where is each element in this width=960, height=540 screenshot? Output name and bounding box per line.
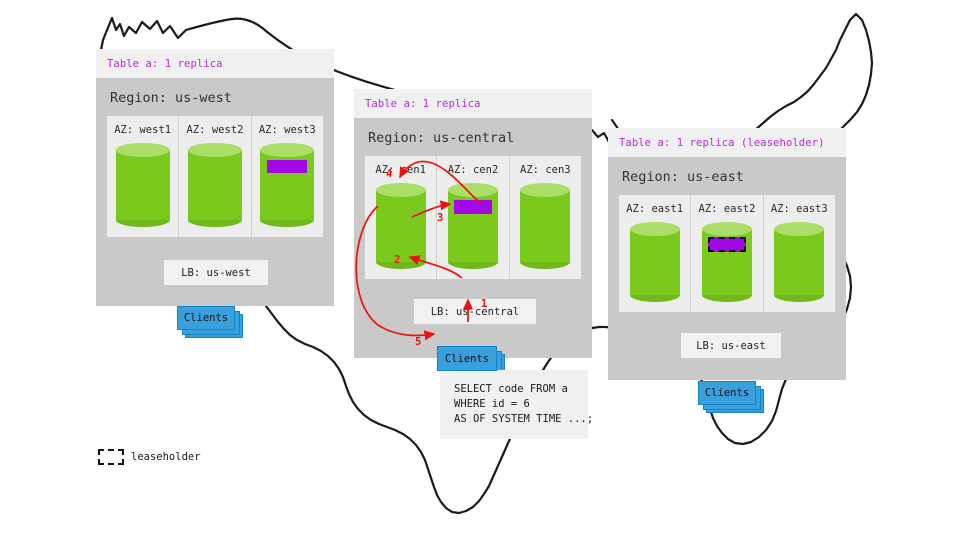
cylinder-body — [774, 229, 824, 295]
az-label-cen2: AZ: cen2 — [437, 164, 508, 176]
node-cylinder-east3[interactable] — [774, 222, 824, 302]
cylinder-top — [702, 222, 752, 236]
az-cell-cen2[interactable]: AZ: cen2 — [437, 156, 509, 279]
sql-query-box: SELECT code FROM a WHERE id = 6 AS OF SY… — [440, 370, 588, 439]
region-title-us-west: Region: us-west — [96, 78, 334, 116]
legend-label: leaseholder — [131, 451, 201, 463]
load-balancer-us-central[interactable]: LB: us-central — [414, 299, 536, 324]
diagram-canvas: Table a: 1 replica Region: us-west AZ: w… — [0, 0, 960, 540]
node-cylinder-cen2[interactable] — [448, 183, 498, 269]
cylinder-body — [376, 190, 426, 262]
cylinder-top — [630, 222, 680, 236]
arrow-number-2: 2 — [394, 254, 400, 266]
region-panel-us-central: Table a: 1 replica Region: us-central AZ… — [354, 89, 592, 358]
region-header-us-east: Table a: 1 replica (leaseholder) — [608, 128, 846, 157]
replica-range-west3[interactable] — [267, 160, 307, 173]
az-label-west2: AZ: west2 — [179, 124, 250, 136]
load-balancer-us-west[interactable]: LB: us-west — [164, 260, 268, 285]
az-cell-east3[interactable]: AZ: east3 — [764, 195, 835, 312]
leaseholder-dashed-swatch — [98, 449, 124, 465]
clients-stack-us-west[interactable]: Clients — [177, 306, 241, 338]
az-strip-us-east: AZ: east1 AZ: east2 — [619, 195, 835, 312]
node-cylinder-east2[interactable] — [702, 222, 752, 302]
cylinder-top — [448, 183, 498, 197]
region-body-us-central: Region: us-central AZ: cen1 AZ: cen2 — [354, 118, 592, 358]
az-label-east2: AZ: east2 — [691, 203, 762, 215]
arrow-number-5: 5 — [415, 336, 421, 348]
az-cell-west2[interactable]: AZ: west2 — [179, 116, 251, 237]
node-cylinder-east1[interactable] — [630, 222, 680, 302]
arrow-number-4: 4 — [386, 168, 392, 180]
az-cell-cen3[interactable]: AZ: cen3 — [510, 156, 581, 279]
cylinder-body — [520, 190, 570, 262]
clients-stack-us-east[interactable]: Clients — [698, 381, 762, 413]
arrow-number-1: 1 — [481, 298, 487, 310]
legend-leaseholder: leaseholder — [98, 449, 201, 465]
cylinder-top — [188, 143, 242, 157]
az-cell-cen1[interactable]: AZ: cen1 — [365, 156, 437, 279]
az-strip-us-west: AZ: west1 AZ: west2 AZ — [107, 116, 323, 237]
az-label-cen1: AZ: cen1 — [365, 164, 436, 176]
cylinder-body — [188, 150, 242, 220]
node-cylinder-cen3[interactable] — [520, 183, 570, 269]
cylinder-top — [520, 183, 570, 197]
region-body-us-west: Region: us-west AZ: west1 AZ: west2 — [96, 78, 334, 306]
arrow-number-3: 3 — [437, 212, 443, 224]
node-cylinder-west1[interactable] — [116, 143, 170, 227]
az-label-east3: AZ: east3 — [764, 203, 835, 215]
clients-box-us-central[interactable]: Clients — [437, 346, 497, 371]
region-panel-us-west: Table a: 1 replica Region: us-west AZ: w… — [96, 49, 334, 306]
az-cell-west3[interactable]: AZ: west3 — [252, 116, 323, 237]
region-title-us-central: Region: us-central — [354, 118, 592, 156]
clients-box-us-east[interactable]: Clients — [698, 381, 756, 405]
region-panel-us-east: Table a: 1 replica (leaseholder) Region:… — [608, 128, 846, 380]
az-label-east1: AZ: east1 — [619, 203, 690, 215]
region-header-us-west: Table a: 1 replica — [96, 49, 334, 78]
az-cell-east1[interactable]: AZ: east1 — [619, 195, 691, 312]
node-cylinder-west3[interactable] — [260, 143, 314, 227]
cylinder-top — [260, 143, 314, 157]
cylinder-body — [116, 150, 170, 220]
az-cell-west1[interactable]: AZ: west1 — [107, 116, 179, 237]
az-cell-east2[interactable]: AZ: east2 — [691, 195, 763, 312]
az-label-west3: AZ: west3 — [252, 124, 323, 136]
az-label-cen3: AZ: cen3 — [510, 164, 581, 176]
replica-range-east2-leaseholder[interactable] — [708, 237, 746, 252]
clients-box-us-west[interactable]: Clients — [177, 306, 235, 330]
cylinder-top — [774, 222, 824, 236]
region-body-us-east: Region: us-east AZ: east1 AZ: east2 — [608, 157, 846, 380]
replica-range-cen2[interactable] — [454, 200, 492, 214]
node-cylinder-west2[interactable] — [188, 143, 242, 227]
region-header-us-central: Table a: 1 replica — [354, 89, 592, 118]
cylinder-top — [116, 143, 170, 157]
load-balancer-us-east[interactable]: LB: us-east — [681, 333, 781, 358]
cylinder-body — [630, 229, 680, 295]
cylinder-top — [376, 183, 426, 197]
az-label-west1: AZ: west1 — [107, 124, 178, 136]
node-cylinder-cen1[interactable] — [376, 183, 426, 269]
region-title-us-east: Region: us-east — [608, 157, 846, 195]
